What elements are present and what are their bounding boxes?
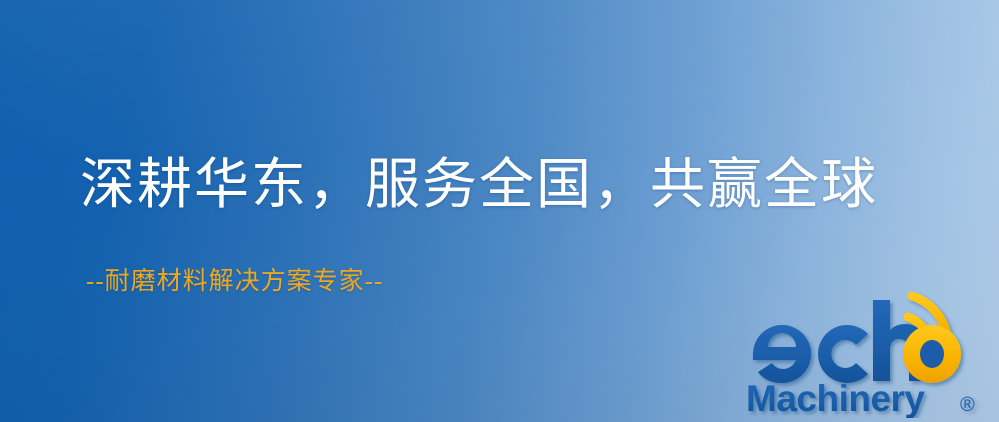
promotional-banner: 深耕华东，服务全国，共赢全球 --耐磨材料解决方案专家-- echo Machi… [0,0,999,422]
wordmark-o-accent [903,325,961,383]
echo-machinery-logo-icon: Machinery ® [742,292,992,418]
brand-logo[interactable]: echo Machinery ® [742,292,992,418]
tagline-machinery: Machinery ® [746,378,975,418]
banner-subtitle: --耐磨材料解决方案专家-- [86,266,383,298]
wordmark-ech [753,300,926,383]
svg-text:Machinery: Machinery [746,378,925,418]
banner-content: 深耕华东，服务全国，共赢全球 --耐磨材料解决方案专家-- echo Machi… [0,0,999,422]
svg-text:®: ® [960,394,975,416]
page-title: 深耕华东，服务全国，共赢全球 [80,152,878,218]
